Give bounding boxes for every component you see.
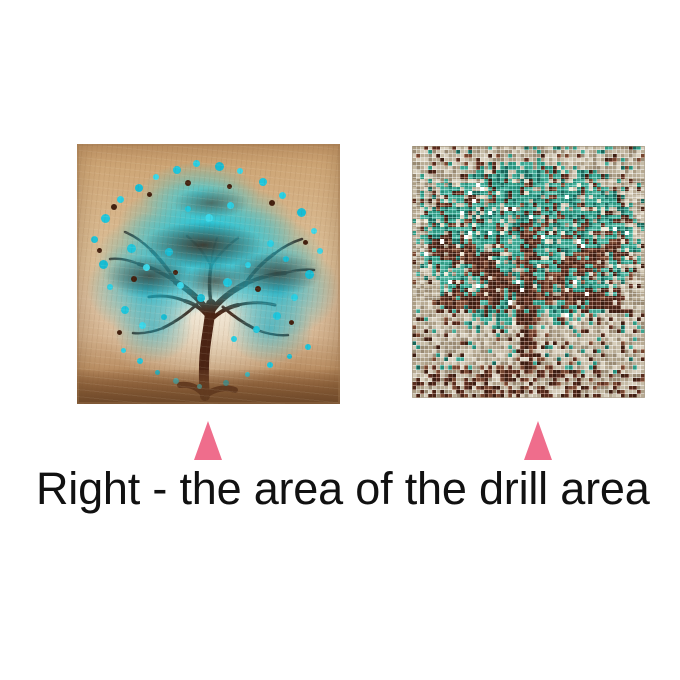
image-canvas: Right - the area of the drill area [0, 0, 680, 680]
pointer-arrow-left [194, 421, 222, 460]
mosaic-photo [412, 146, 645, 398]
caption-text: Right - the area of the drill area [36, 466, 680, 511]
mosaic-edge [412, 146, 645, 398]
painting-canvas-edge [77, 144, 340, 404]
painting-photo [77, 144, 340, 404]
pointer-arrow-right [524, 421, 552, 460]
